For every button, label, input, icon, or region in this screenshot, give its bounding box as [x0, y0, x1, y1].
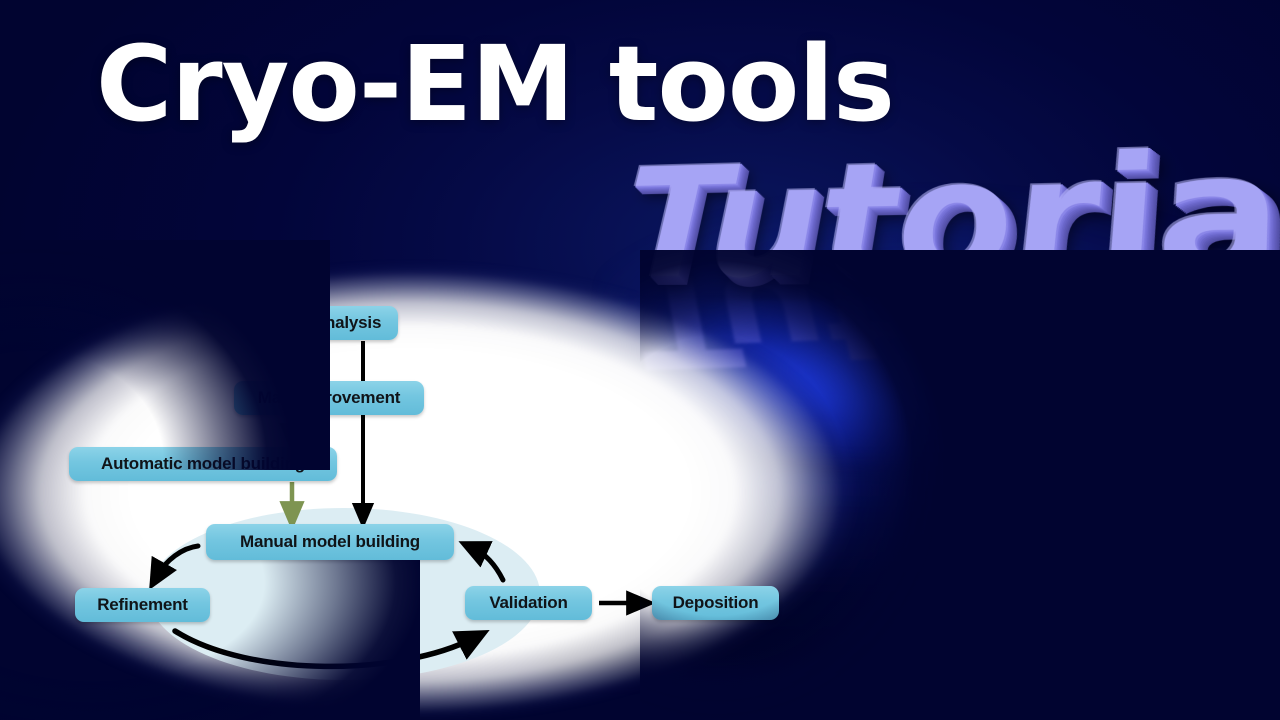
node-label: Validation: [489, 593, 567, 613]
node-label: Refinement: [97, 595, 188, 615]
flowchart: Map analysis Map Improvement Automatic m…: [0, 0, 1280, 720]
node-refinement[interactable]: Refinement: [75, 588, 210, 622]
node-map-improvement[interactable]: Map Improvement: [234, 381, 424, 415]
node-label: Map analysis: [278, 313, 381, 333]
node-deposition[interactable]: Deposition: [652, 586, 779, 620]
node-label: Manual model building: [240, 532, 420, 552]
node-label: Automatic model building: [101, 454, 305, 474]
node-label: Deposition: [673, 593, 759, 613]
node-map-analysis[interactable]: Map analysis: [261, 306, 398, 340]
node-manual-model-building[interactable]: Manual model building: [206, 524, 454, 560]
edge-refinement-to-validation: [175, 631, 474, 666]
slide-canvas: Tutorial Tutorial Tutorial Cryo-EM tools: [0, 0, 1280, 720]
node-label: Map Improvement: [258, 388, 400, 408]
node-validation[interactable]: Validation: [465, 586, 592, 620]
node-automatic-model-building[interactable]: Automatic model building: [69, 447, 337, 481]
edge-manual-to-refinement: [157, 546, 198, 576]
edge-validation-to-manual: [473, 548, 503, 580]
